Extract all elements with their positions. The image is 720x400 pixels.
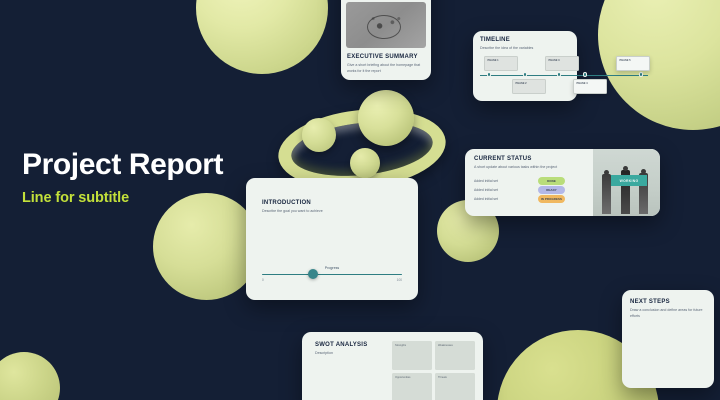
current-status-body: CURRENT STATUS A short update about vari…: [465, 149, 593, 204]
card-introduction[interactable]: INTRODUCTION Describe the goal you want …: [246, 178, 418, 300]
current-status-title: CURRENT STATUS: [474, 156, 593, 162]
swot-cell-label: Weaknesses: [435, 341, 475, 347]
card-next-steps[interactable]: NEXT STEPS Draw a conclusion and define …: [622, 290, 714, 388]
progress-slider-track[interactable]: [262, 274, 402, 275]
status-row[interactable]: Added initial set DONE: [474, 177, 593, 186]
torus-ball-small-front: [350, 148, 380, 178]
timeline-box-4[interactable]: PHASE 4: [573, 79, 607, 94]
next-steps-body: NEXT STEPS Draw a conclusion and define …: [622, 290, 714, 319]
swot-description: Description: [315, 351, 382, 357]
status-badge: IN PROGRESS: [538, 195, 565, 202]
sphere-left-middle: [153, 193, 260, 300]
timeline-box-1[interactable]: PHASE 1: [484, 56, 518, 71]
status-row-label: Added initial set: [474, 197, 538, 201]
current-status-photo: WORKING: [593, 149, 660, 216]
progress-slider-label: Progress: [262, 266, 402, 270]
hero-text-block: Project Report Line for subtitle: [22, 148, 223, 206]
swot-grid: Strengths Weaknesses Opportunities Threa…: [392, 341, 475, 400]
working-sign-text: WORKING: [620, 179, 639, 183]
torus-ball-small-left: [302, 118, 336, 152]
swot-cell-label: Strengths: [392, 341, 432, 347]
timeline-box-5-label: PHASE 5: [617, 57, 649, 63]
swot-cell-label: Threats: [435, 373, 475, 379]
introduction-title: INTRODUCTION: [262, 200, 418, 206]
status-row-label: Added initial set: [474, 179, 538, 183]
introduction-body: INTRODUCTION Describe the goal you want …: [246, 178, 418, 215]
status-row[interactable]: Added initial set IN PROGRESS: [474, 195, 593, 204]
executive-summary-body: EXECUTIVE SUMMARY Give a short briefing …: [341, 48, 431, 74]
swot-cell-threats[interactable]: Threats: [435, 373, 475, 400]
executive-summary-title: EXECUTIVE SUMMARY: [347, 54, 425, 60]
status-row-list: Added initial set DONE Added initial set…: [474, 177, 593, 204]
status-badge: READY: [538, 186, 565, 193]
sphere-top-center: [196, 0, 328, 74]
status-row-label: Added initial set: [474, 188, 538, 192]
card-executive-summary[interactable]: EXECUTIVE SUMMARY Give a short briefing …: [341, 0, 431, 80]
swot-cell-weaknesses[interactable]: Weaknesses: [435, 341, 475, 370]
next-steps-description: Draw a conclusion and define areas for f…: [630, 308, 706, 319]
torus-ball-large: [358, 90, 414, 146]
progress-slider-max: 100: [397, 278, 402, 282]
page-subtitle: Line for subtitle: [22, 190, 223, 206]
timeline-graphic: PHASE 1 PHASE 2 PHASE 3 PHASE 4 PHASE 5: [473, 31, 673, 111]
timeline-box-1-label: PHASE 1: [485, 57, 517, 63]
status-badge: DONE: [538, 177, 565, 184]
timeline-box-4-label: PHASE 4: [574, 80, 606, 86]
swot-body: SWOT ANALYSIS Description: [302, 332, 382, 357]
timeline-box-3-label: PHASE 3: [546, 57, 578, 63]
timeline-box-5[interactable]: PHASE 5: [616, 56, 650, 71]
timeline-box-2[interactable]: PHASE 2: [512, 79, 546, 94]
timeline-axis: [480, 75, 648, 76]
progress-slider-endpoints: 0 100: [262, 278, 402, 282]
introduction-description: Describe the goal you want to achieve: [262, 209, 418, 215]
next-steps-title: NEXT STEPS: [630, 299, 706, 305]
executive-summary-description: Give a short briefing about the homepage…: [347, 63, 425, 74]
progress-slider-min: 0: [262, 278, 264, 282]
swot-cell-strengths[interactable]: Strengths: [392, 341, 432, 370]
swot-title: SWOT ANALYSIS: [315, 342, 382, 348]
sphere-bottom-left: [0, 352, 60, 400]
progress-slider[interactable]: Progress 0 100: [262, 266, 402, 282]
status-row[interactable]: Added initial set READY: [474, 186, 593, 195]
page-title: Project Report: [22, 148, 223, 181]
person-figure: [602, 174, 611, 214]
timeline-box-2-label: PHASE 2: [513, 80, 545, 86]
presentation-canvas: Project Report Line for subtitle EXECUTI…: [0, 0, 720, 400]
timeline-box-3[interactable]: PHASE 3: [545, 56, 579, 71]
current-status-description: A short update about various tasks withi…: [474, 165, 593, 171]
working-sign: WORKING: [611, 175, 647, 186]
card-current-status[interactable]: CURRENT STATUS A short update about vari…: [465, 149, 660, 216]
executive-summary-thumbnail: [346, 2, 426, 48]
swot-cell-opportunities[interactable]: Opportunities: [392, 373, 432, 400]
swot-cell-label: Opportunities: [392, 373, 432, 379]
card-swot-analysis[interactable]: SWOT ANALYSIS Description Strengths Weak…: [302, 332, 483, 400]
